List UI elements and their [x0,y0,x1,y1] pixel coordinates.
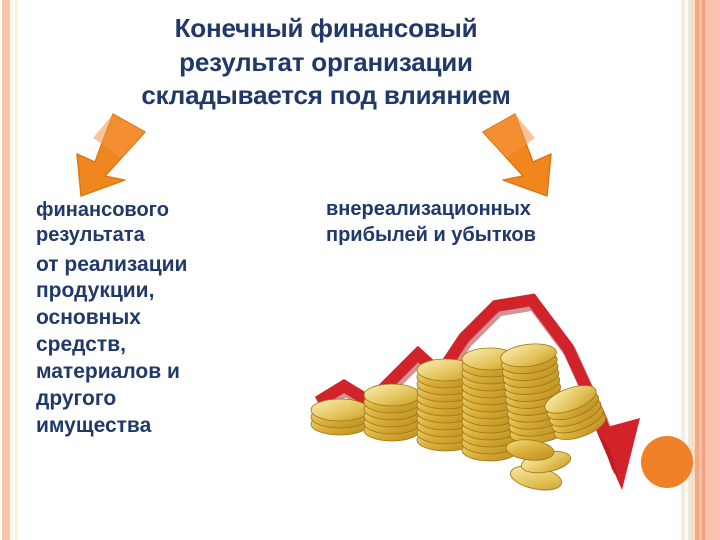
left-body-line-5: материалов и [36,359,286,386]
left-body-line-7: имущества [36,413,286,440]
left-body-text: от реализации продукции, основных средст… [36,252,286,440]
left-body-line-4: средств, [36,332,286,359]
slide-canvas: Конечный финансовый результат организаци… [0,0,720,540]
left-lead-line-2: результата [36,223,286,248]
title-line-3: складывается под влиянием [26,79,626,113]
down-right-arrow [480,112,572,205]
slide-title: Конечный финансовый результат организаци… [26,12,626,113]
left-body-line-2: продукции, [36,278,286,305]
left-decorative-band [0,0,22,540]
orange-circle-decoration [641,436,693,488]
left-body-line-6: другого [36,386,286,413]
coin-stacks [311,341,609,494]
left-body-line-3: основных [36,305,286,332]
down-left-arrow [58,112,150,205]
title-line-1: Конечный финансовый [26,12,626,46]
right-text-column: внереализационных прибылей и убытков [326,196,686,248]
left-lead-text: финансового результата [36,198,286,248]
right-text-line-2: прибылей и убытков [326,222,686,248]
coins-and-falling-chart [300,290,670,520]
left-text-column: финансового результата от реализации про… [36,198,286,440]
left-body-line-1: от реализации [36,252,286,279]
title-line-2: результат организации [26,46,626,80]
right-text-line-1: внереализационных [326,196,686,222]
left-lead-line-1: финансового [36,198,286,223]
